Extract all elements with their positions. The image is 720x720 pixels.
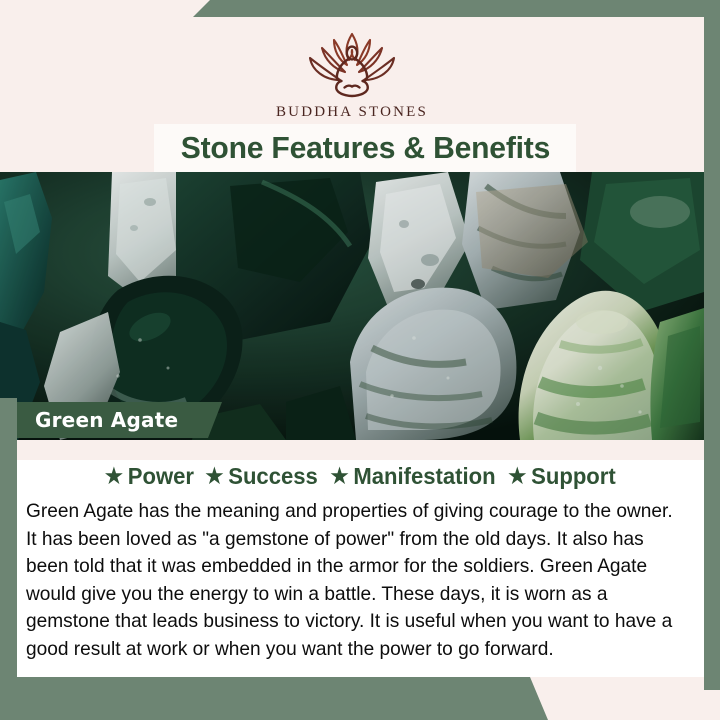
benefit-label: Manifestation <box>353 463 495 490</box>
benefit-item-success: ★ Success <box>205 463 318 490</box>
star-icon: ★ <box>330 466 348 487</box>
benefits-row: ★ Power ★ Success ★ Manifestation ★ Supp… <box>17 459 704 493</box>
stone-description: Green Agate has the meaning and properti… <box>26 498 688 664</box>
page-title: Stone Features & Benefits <box>180 130 549 166</box>
benefit-item-support: ★ Support <box>508 463 616 490</box>
content-top-tint <box>17 440 704 460</box>
benefit-item-power: ★ Power <box>105 463 194 490</box>
stone-info-card: BUDDHA STONES Stone Features & Benefits <box>0 0 720 720</box>
brand-logo: BUDDHA STONES <box>0 26 704 121</box>
star-icon: ★ <box>105 466 123 487</box>
stone-photo-illustration <box>0 172 704 440</box>
right-accent-band <box>704 0 720 690</box>
star-icon: ★ <box>205 466 223 487</box>
left-accent-band-upper <box>0 398 17 440</box>
lotus-meditation-icon <box>298 26 406 100</box>
stone-name-banner: Green Agate <box>17 402 222 438</box>
top-accent-band <box>193 0 720 17</box>
stone-photo <box>0 172 704 440</box>
star-icon: ★ <box>508 466 526 487</box>
stone-name: Green Agate <box>35 408 178 432</box>
benefit-item-manifestation: ★ Manifestation <box>330 463 495 490</box>
brand-name: BUDDHA STONES <box>276 104 428 121</box>
page-title-band: Stone Features & Benefits <box>154 124 576 172</box>
benefit-label: Success <box>228 463 318 490</box>
header-top-left-cream <box>0 0 193 17</box>
bottom-accent-band <box>0 677 548 720</box>
benefit-label: Power <box>128 463 194 490</box>
benefit-label: Support <box>531 463 616 490</box>
